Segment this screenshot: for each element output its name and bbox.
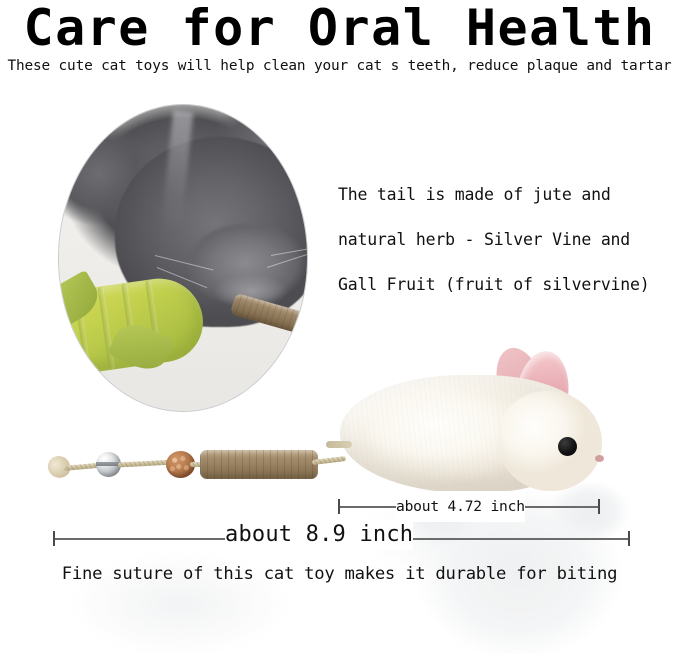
- lifestyle-photo-circle: [58, 104, 308, 412]
- infographic-page: Care for Oral Health These cute cat toys…: [0, 0, 679, 654]
- jute-rope-segment: [118, 460, 172, 468]
- mouse-head: [498, 391, 602, 491]
- dimension-label-total-length: about 8.9 inch: [225, 519, 413, 550]
- page-title: Care for Oral Health: [0, 1, 679, 55]
- feature-line-3: Gall Fruit (fruit of silvervine): [338, 262, 668, 307]
- dimension-cap-right: [628, 531, 630, 546]
- dimension-line-total-length: about 8.9 inch: [53, 531, 630, 547]
- photo-content: [59, 105, 307, 411]
- mouse-eye-icon: [558, 437, 577, 456]
- dimension-cap-right: [598, 499, 600, 514]
- bottom-caption: Fine suture of this cat toy makes it dur…: [0, 561, 679, 587]
- dimension-label-mouse-body: about 4.72 inch: [396, 491, 525, 522]
- feature-line-2: natural herb - Silver Vine and: [338, 217, 668, 262]
- toy-segment: [97, 286, 115, 370]
- mouse-nose-icon: [595, 455, 604, 462]
- feature-description: The tail is made of jute and natural her…: [338, 172, 668, 307]
- dimension-line-mouse-body: about 4.72 inch: [338, 499, 600, 515]
- feature-line-1: The tail is made of jute and: [338, 172, 668, 217]
- tail-assembly: [48, 440, 348, 500]
- page-subtitle: These cute cat toys will help clean your…: [0, 56, 679, 76]
- plush-mouse-toy: [330, 345, 600, 500]
- silver-vine-stick: [200, 450, 318, 479]
